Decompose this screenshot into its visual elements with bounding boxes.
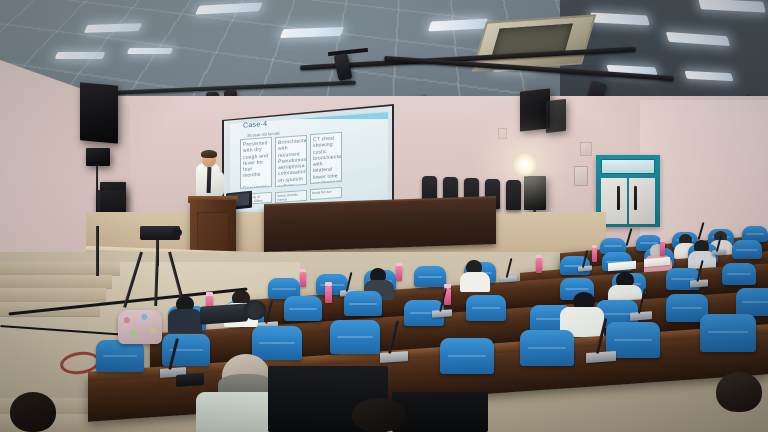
ceiling-speaker-left xyxy=(80,82,118,143)
audience-chair[interactable] xyxy=(466,295,506,321)
smartphone[interactable] xyxy=(176,373,204,387)
door-transom-window xyxy=(601,159,655,174)
audience-head-foreground xyxy=(10,392,56,432)
door-handle[interactable] xyxy=(634,186,637,210)
stair-step xyxy=(0,288,106,302)
audience-chair[interactable] xyxy=(700,314,756,352)
audience-body xyxy=(460,272,490,292)
headphones[interactable] xyxy=(200,303,248,324)
audience-chair[interactable] xyxy=(440,338,494,374)
ceiling-speaker-right-lower xyxy=(546,99,566,133)
head-table xyxy=(264,198,496,252)
water-bottle[interactable] xyxy=(300,272,306,287)
wall-control-box xyxy=(580,142,592,156)
audience-body xyxy=(168,309,202,333)
headphone-cup xyxy=(244,300,266,320)
floor-speaker-right xyxy=(524,176,546,210)
camera-lens-icon xyxy=(172,228,182,237)
wall-control-box xyxy=(574,166,588,186)
presenter-hair xyxy=(201,150,217,158)
stair-step xyxy=(0,262,120,275)
audience-chair[interactable] xyxy=(344,291,382,316)
bottle-cap xyxy=(300,269,306,272)
slide-column-2: Bronchiectasis with recurrent Pseudomona… xyxy=(275,135,307,187)
audience-chair[interactable] xyxy=(414,266,446,287)
audience-chair[interactable] xyxy=(330,320,380,354)
microphone-base xyxy=(432,309,452,317)
door-handle[interactable] xyxy=(617,186,620,210)
slide-column-1: Presented with dry cough and fever for f… xyxy=(240,137,272,189)
stair-step xyxy=(0,275,112,288)
bottle-cap xyxy=(206,292,213,296)
mic-stand-pole xyxy=(96,226,99,276)
water-bottle[interactable] xyxy=(660,242,665,256)
microphone-base xyxy=(586,351,616,363)
microphone-base xyxy=(380,351,408,363)
slide-footer-cell-2: Sweat chloride normal xyxy=(275,190,307,203)
bottle-cap xyxy=(396,263,402,266)
bottle-cap xyxy=(592,245,597,248)
wall-control-box xyxy=(498,128,507,139)
conference-hall-photo: Case-4 35 year old female Presented with… xyxy=(0,0,768,432)
audience-chair[interactable] xyxy=(520,330,574,366)
slide-column-3: CT chest showing cystic bronchiectasis w… xyxy=(310,132,342,184)
bottle-cap xyxy=(660,239,665,242)
monitor-foreground-2[interactable] xyxy=(392,392,488,432)
bottle-cap xyxy=(536,255,542,258)
left-monitor-panel xyxy=(86,148,110,166)
ceiling-light-panel xyxy=(127,48,173,54)
panel-chair[interactable] xyxy=(506,180,521,210)
ceiling-light-panel xyxy=(55,52,106,59)
microphone-base xyxy=(630,311,652,321)
audience-chair[interactable] xyxy=(96,340,144,372)
audience-chair[interactable] xyxy=(284,296,322,321)
microphone-base xyxy=(500,275,517,282)
audience-chair[interactable] xyxy=(722,263,756,285)
audience-chair[interactable] xyxy=(732,240,762,259)
audience-head-foreground xyxy=(716,372,762,412)
floral-backpack[interactable] xyxy=(118,310,162,344)
bottle-cap xyxy=(325,282,332,286)
water-bottle[interactable] xyxy=(536,258,542,273)
work-light xyxy=(512,152,538,178)
water-bottle[interactable] xyxy=(396,266,402,281)
water-bottle[interactable] xyxy=(325,286,332,303)
door-right-leaf[interactable] xyxy=(629,178,655,224)
slide-footer-cell-3: Nasal NO low xyxy=(310,187,342,200)
audience-chair[interactable] xyxy=(252,326,302,360)
audience-head-foreground xyxy=(352,398,406,432)
water-bottle[interactable] xyxy=(592,248,597,262)
presenter-arm xyxy=(216,172,224,196)
microphone-base xyxy=(690,279,708,287)
audience-chair[interactable] xyxy=(736,288,768,316)
